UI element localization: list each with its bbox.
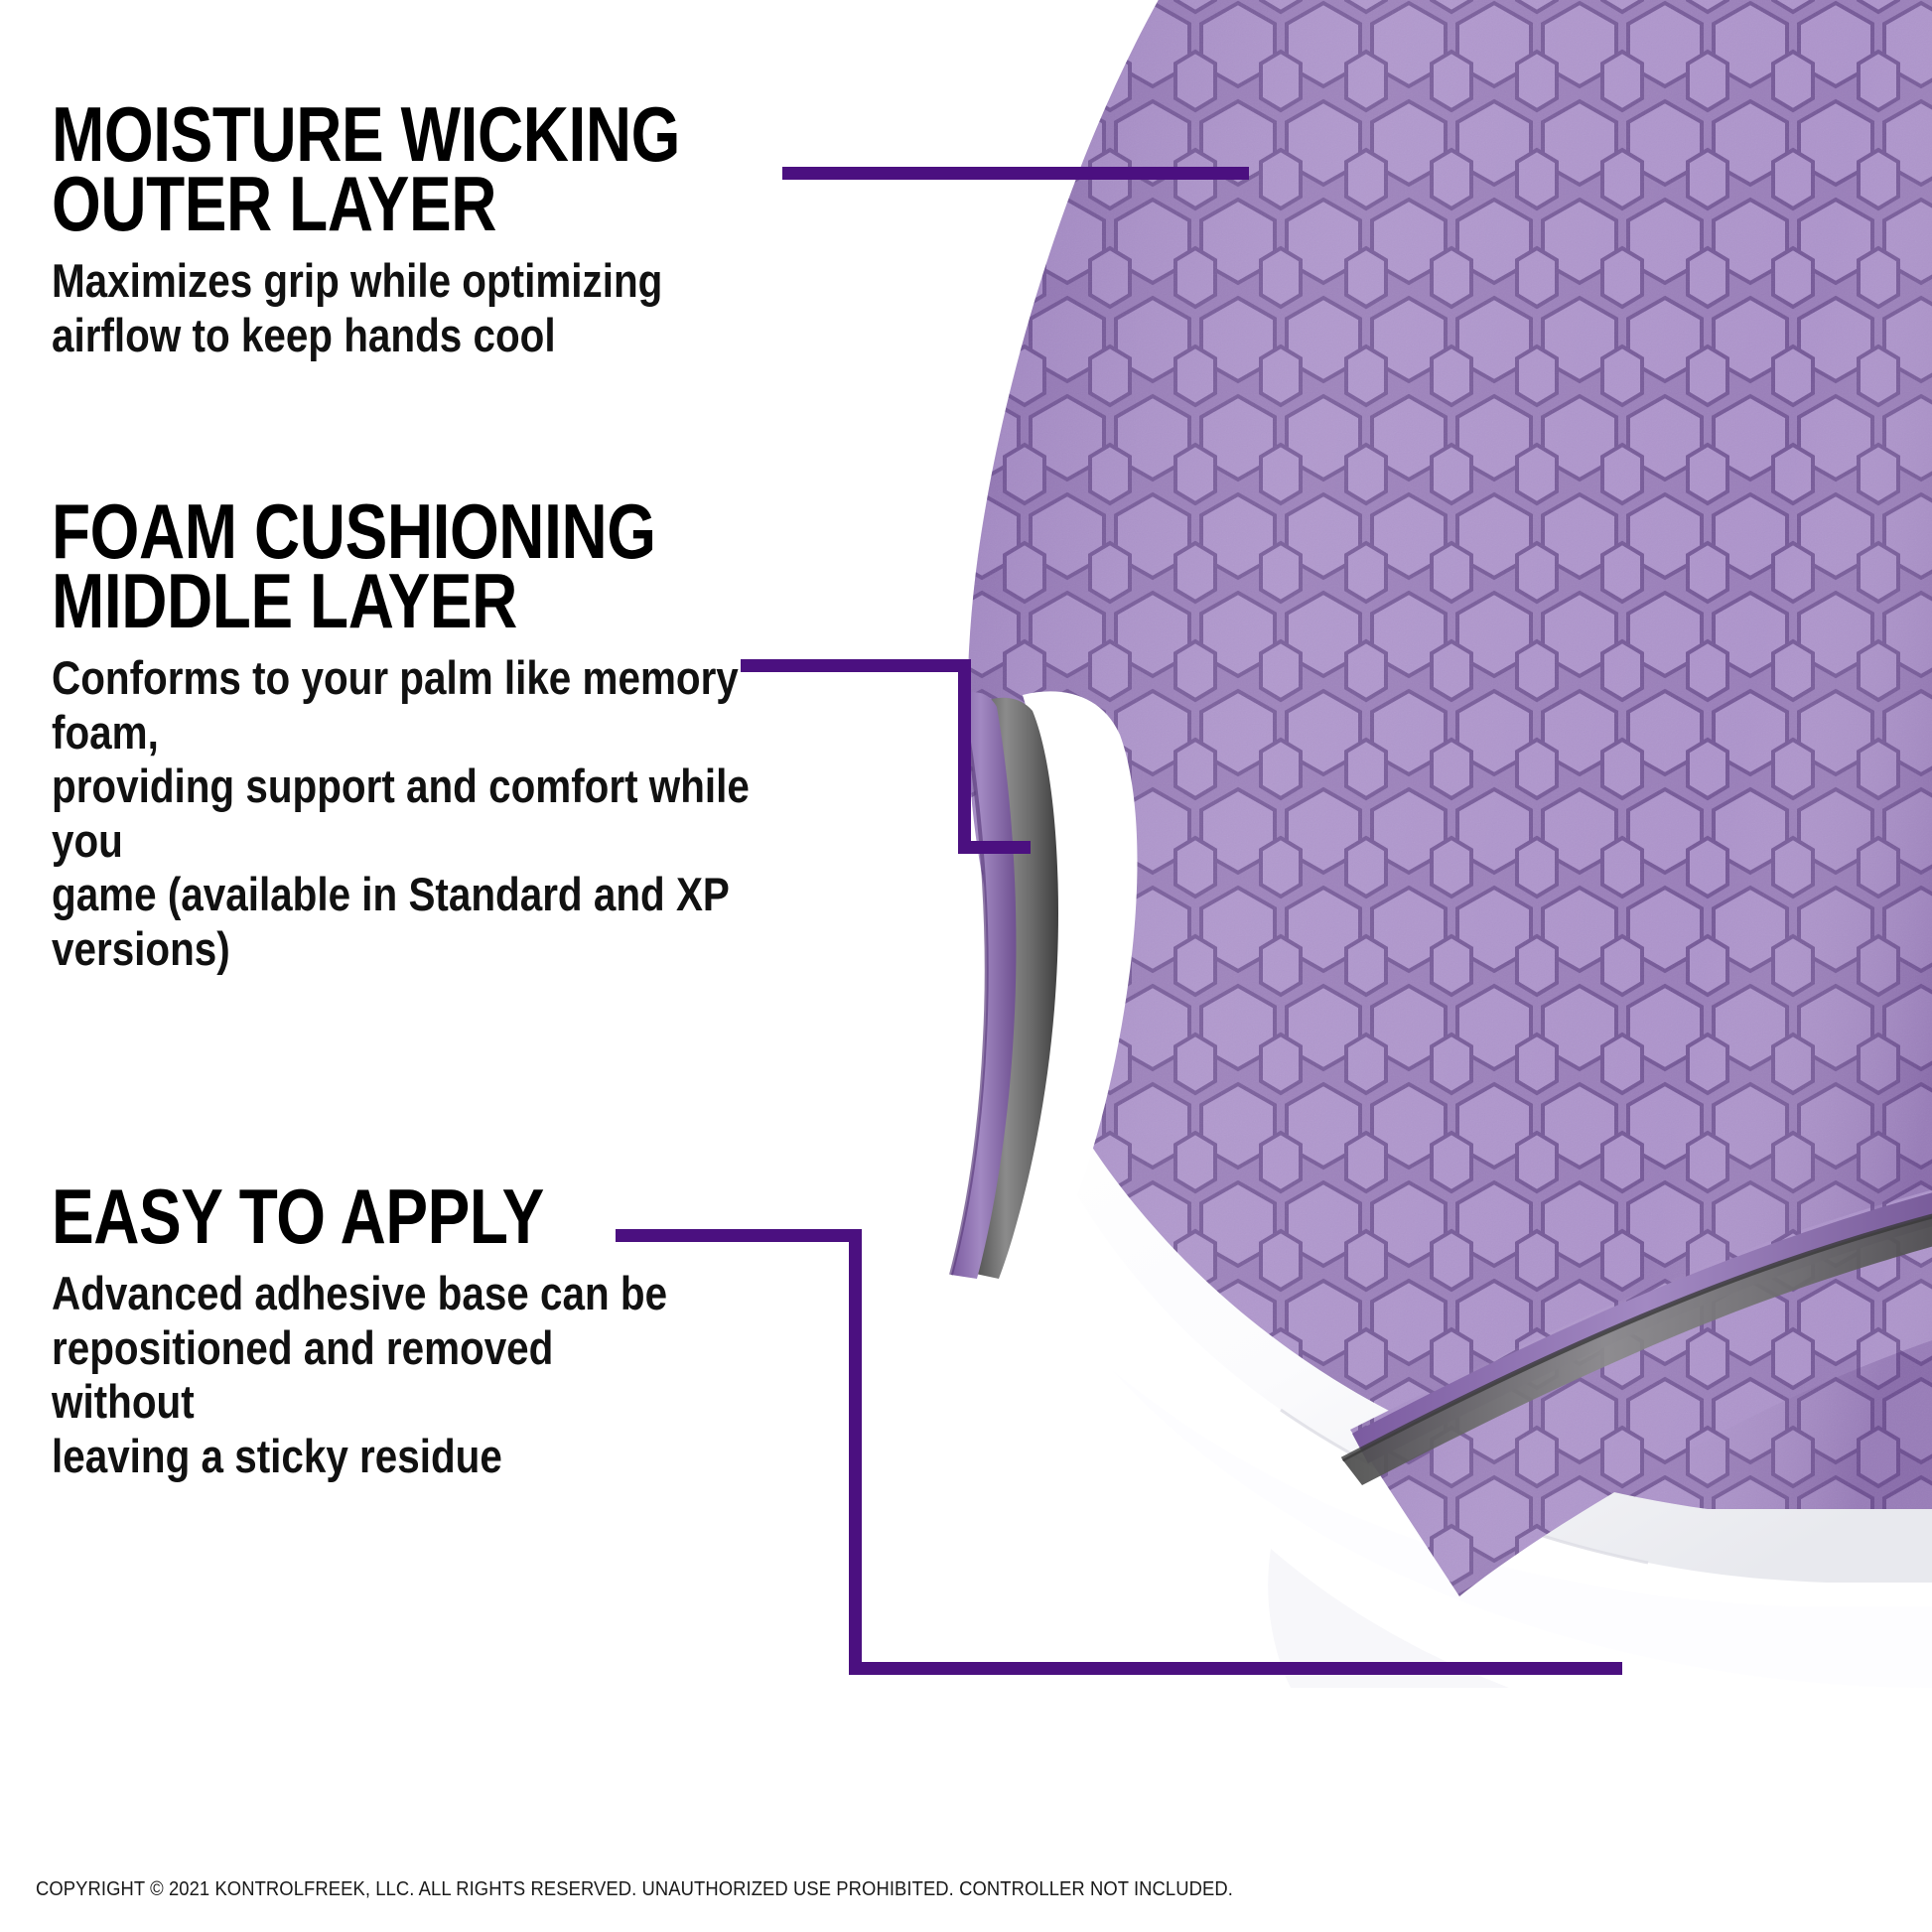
connector-segment-horizontal-end [849, 1662, 1622, 1675]
callout-easy-to-apply: EASY TO APPLY Advanced adhesive base can… [52, 1181, 806, 1483]
callout-body: Maximizes grip while optimizing airflow … [52, 254, 718, 362]
connector-line-outer-layer [782, 167, 1249, 181]
callout-body: Conforms to your palm like memory foam, … [52, 651, 820, 976]
callout-foam-cushioning-middle-layer: FOAM CUSHIONING MIDDLE LAYER Conforms to… [52, 496, 945, 976]
connector-segment-vertical [849, 1229, 862, 1675]
infographic-page: MOISTURE WICKING OUTER LAYER Maximizes g… [0, 0, 1932, 1932]
copyright-notice: COPYRIGHT © 2021 KONTROLFREEK, LLC. ALL … [36, 1878, 1233, 1901]
connector-segment-horizontal [782, 167, 1249, 180]
callout-body: Advanced adhesive base can be reposition… [52, 1267, 701, 1483]
callout-title: FOAM CUSHIONING MIDDLE LAYER [52, 496, 784, 635]
callout-title: EASY TO APPLY [52, 1181, 670, 1251]
callout-title: MOISTURE WICKING OUTER LAYER [52, 99, 687, 238]
connector-segment-vertical [958, 659, 971, 854]
callout-moisture-wicking-outer-layer: MOISTURE WICKING OUTER LAYER Maximizes g… [52, 99, 826, 362]
connector-segment-horizontal-end [958, 841, 1031, 854]
